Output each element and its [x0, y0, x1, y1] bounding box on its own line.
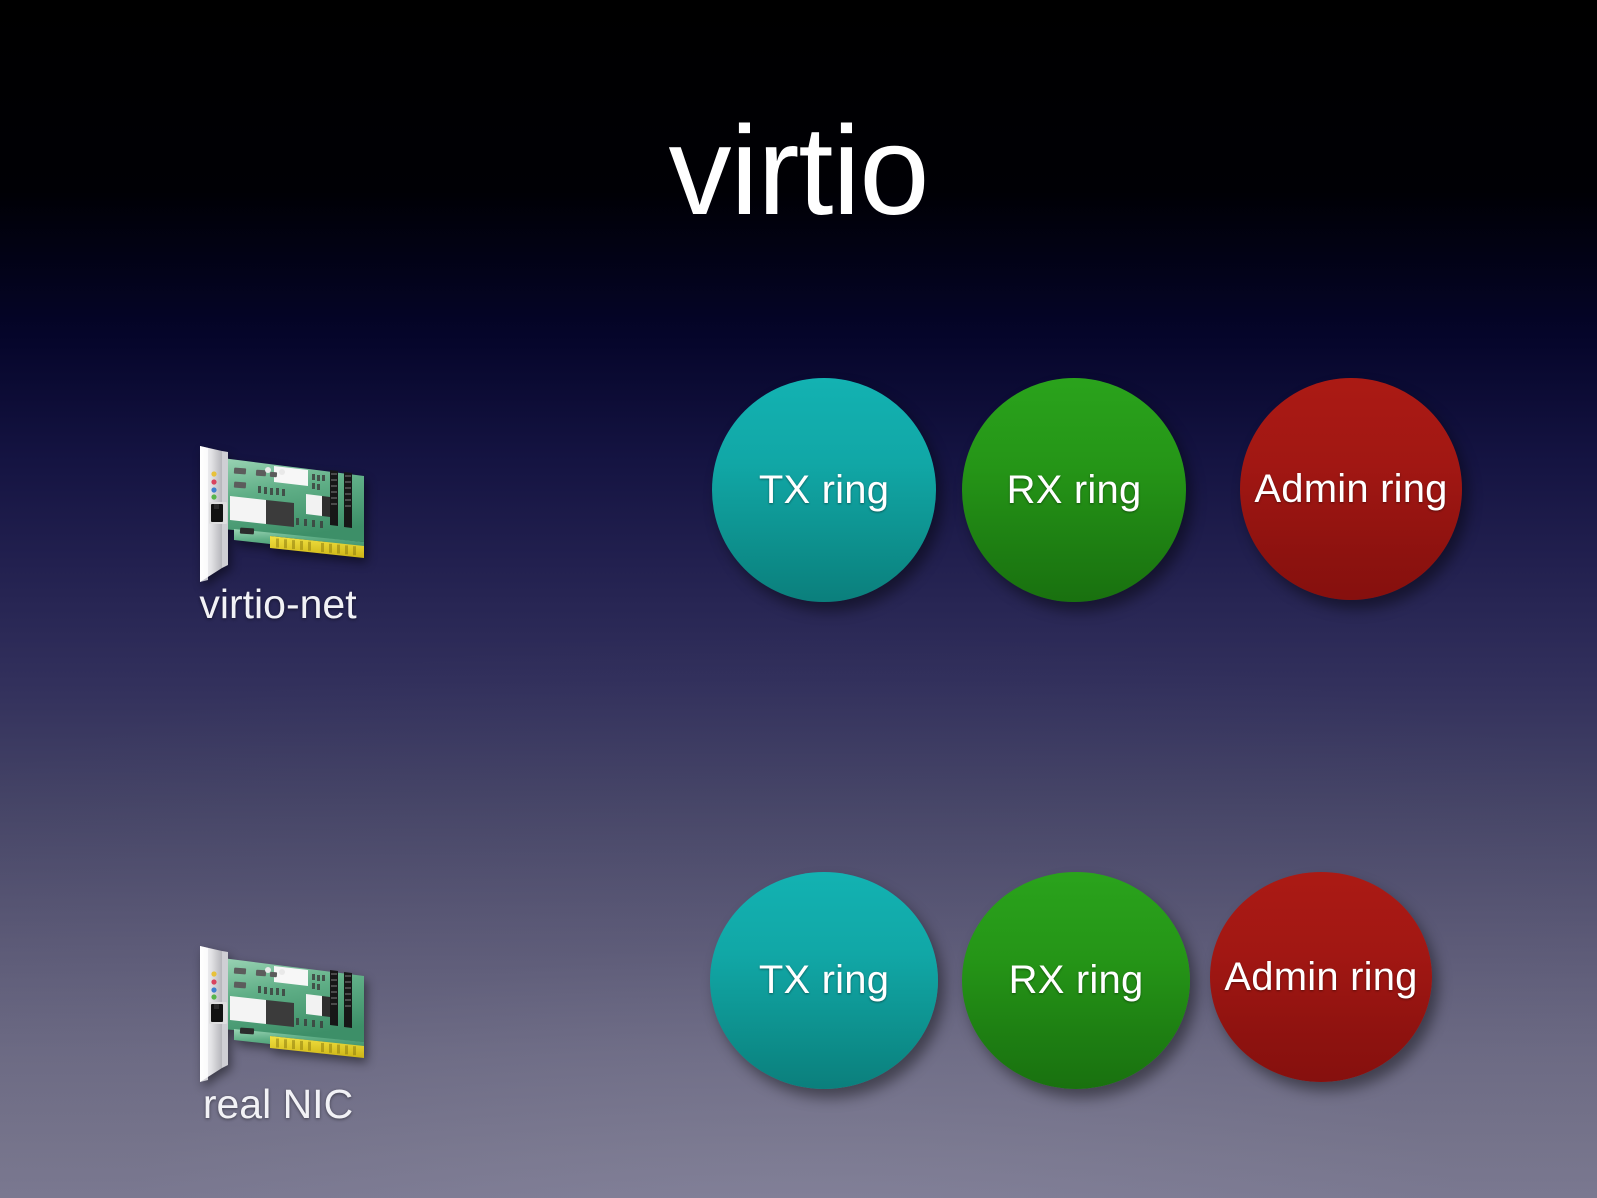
ring-tx-real-nic[interactable]: TX ring [710, 872, 938, 1089]
pci-card-graphic [178, 430, 378, 585]
device-label: virtio-net [148, 581, 408, 628]
pci-network-card-icon [178, 930, 378, 1085]
device-label: real NIC [148, 1081, 408, 1128]
ring-label: Admin ring [1224, 955, 1417, 1000]
ring-tx-virtio-net[interactable]: TX ring [712, 378, 936, 602]
pci-network-card-icon [178, 430, 378, 585]
presentation-slide: virtio [0, 0, 1597, 1198]
page-title: virtio [0, 108, 1597, 234]
pci-card-graphic [178, 930, 378, 1085]
ring-label: TX ring [759, 958, 889, 1003]
ring-admin-real-nic[interactable]: Admin ring [1210, 872, 1432, 1082]
ring-label: RX ring [1007, 468, 1142, 513]
device-real-nic: real NIC [148, 930, 408, 1128]
device-virtio-net: virtio-net [148, 430, 408, 628]
ring-rx-real-nic[interactable]: RX ring [962, 872, 1190, 1089]
ring-admin-virtio-net[interactable]: Admin ring [1240, 378, 1462, 600]
ring-label: Admin ring [1254, 467, 1447, 512]
ring-label: TX ring [759, 468, 889, 513]
ring-label: RX ring [1009, 958, 1144, 1003]
ring-rx-virtio-net[interactable]: RX ring [962, 378, 1186, 602]
